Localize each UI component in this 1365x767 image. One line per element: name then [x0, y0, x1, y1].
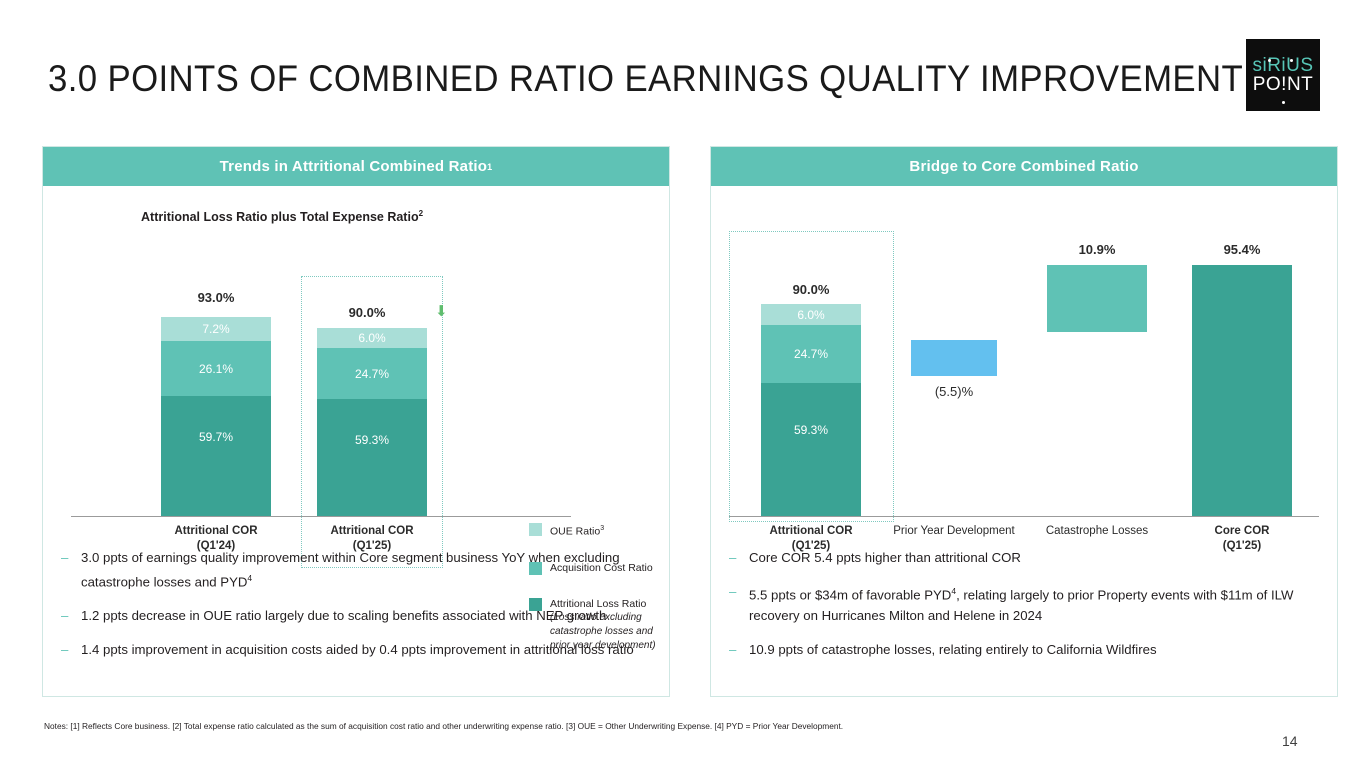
- x-axis-label-prior-year-development-line1: Prior Year Development: [889, 524, 1019, 539]
- panel-bridge-to-core-combined-ratio: Bridge to Core Combined Ratio 90.0% 6.0%…: [710, 146, 1338, 697]
- legend-label-oue-ratio: OUE Ratio3: [550, 522, 604, 539]
- x-axis-label-catastrophe-losses-line1: Catastrophe Losses: [1032, 524, 1162, 539]
- x-axis-label-core-cor-line1: Core COR: [1182, 524, 1302, 539]
- bullet-item: – Core COR 5.4 ppts higher than attritio…: [729, 547, 1321, 568]
- bar-segment-attritional-loss-q125: 59.3%: [317, 399, 427, 516]
- waterfall-label-prior-year-development: (5.5)%: [904, 384, 1004, 399]
- bar-segment-acquisition-q125-right: 24.7%: [761, 325, 861, 383]
- stacked-bar-q125: 6.0% 24.7% 59.3%: [317, 328, 427, 516]
- x-axis-label-attritional-cor-line1: Attritional COR: [751, 524, 871, 539]
- bullet-item: – 3.0 ppts of earnings quality improveme…: [61, 547, 653, 592]
- bullet-text: 5.5 ppts or $34m of favorable PYD4, rela…: [749, 581, 1321, 626]
- logo-sparkle-icon: [1268, 59, 1271, 62]
- bar-segment-oue-q124: 7.2%: [161, 317, 271, 341]
- panel-trends-attritional-combined-ratio: Trends in Attritional Combined Ratio1 At…: [42, 146, 670, 697]
- waterfall-label-catastrophe-losses: 10.9%: [1047, 242, 1147, 257]
- right-chart-axis: [729, 516, 1319, 517]
- logo-sparkle-icon: [1290, 59, 1293, 62]
- legend-swatch-icon: [529, 523, 542, 536]
- bullet-text: 1.4 ppts improvement in acquisition cost…: [81, 639, 634, 660]
- down-arrow-icon: ⬇: [435, 304, 448, 319]
- bar-segment-oue-q125-right: 6.0%: [761, 304, 861, 325]
- bullet-text: Core COR 5.4 ppts higher than attritiona…: [749, 547, 1021, 568]
- bullet-item: – 1.4 ppts improvement in acquisition co…: [61, 639, 653, 660]
- x-axis-label-catastrophe-losses: Catastrophe Losses: [1032, 524, 1162, 539]
- bullet-item: – 10.9 ppts of catastrophe losses, relat…: [729, 639, 1321, 660]
- bullet-dash-icon: –: [729, 639, 749, 660]
- bullet-dash-icon: –: [61, 547, 81, 592]
- bar-segment-acquisition-q124: 26.1%: [161, 341, 271, 396]
- x-axis-label-prior-year-development: Prior Year Development: [889, 524, 1019, 539]
- waterfall-bar-prior-year-development: [911, 340, 997, 376]
- bullet-text: 3.0 ppts of earnings quality improvement…: [81, 547, 653, 592]
- x-axis-label-q124-line1: Attritional COR: [151, 524, 281, 539]
- bullet-dash-icon: –: [61, 639, 81, 660]
- left-panel-bullets: – 3.0 ppts of earnings quality improveme…: [61, 547, 653, 673]
- left-chart-axis: [71, 516, 571, 517]
- bar-total-label-q125: 90.0%: [317, 305, 417, 320]
- bar-segment-attritional-loss-q124: 59.7%: [161, 396, 271, 516]
- bar-segment-attritional-loss-q125-right: 59.3%: [761, 383, 861, 516]
- bullet-dash-icon: –: [729, 547, 749, 568]
- footnote: Notes: [1] Reflects Core business. [2] T…: [44, 721, 843, 731]
- bullet-item: – 5.5 ppts or $34m of favorable PYD4, re…: [729, 581, 1321, 626]
- logo-sparkle-icon: [1282, 101, 1285, 104]
- waterfall-label-core-cor: 95.4%: [1192, 242, 1292, 257]
- waterfall-label-attritional-cor: 90.0%: [761, 282, 861, 297]
- logo-line-2: PO!NT: [1253, 75, 1314, 95]
- siriuspoint-logo: siRiUS PO!NT: [1246, 39, 1320, 111]
- bullet-item: – 1.2 ppts decrease in OUE ratio largely…: [61, 605, 653, 626]
- x-axis-label-q125-line1: Attritional COR: [307, 524, 437, 539]
- waterfall-bar-catastrophe-losses: [1047, 265, 1147, 332]
- bullet-dash-icon: –: [61, 605, 81, 626]
- bar-segment-acquisition-q125: 24.7%: [317, 348, 427, 399]
- left-panel-header: Trends in Attritional Combined Ratio1: [43, 147, 669, 186]
- page-title: 3.0 POINTS OF COMBINED RATIO EARNINGS QU…: [48, 58, 1243, 100]
- bullet-dash-icon: –: [729, 581, 749, 626]
- right-panel-header-text: Bridge to Core Combined Ratio: [909, 158, 1138, 175]
- right-panel-bullets: – Core COR 5.4 ppts higher than attritio…: [729, 547, 1321, 673]
- bullet-text: 1.2 ppts decrease in OUE ratio largely d…: [81, 605, 606, 626]
- waterfall-bar-attritional-cor: 6.0% 24.7% 59.3%: [761, 304, 861, 516]
- waterfall-bar-core-cor: [1192, 265, 1292, 516]
- bar-total-label-q124: 93.0%: [161, 290, 271, 305]
- bullet-text: 10.9 ppts of catastrophe losses, relatin…: [749, 639, 1157, 660]
- left-chart-plot-area: 93.0% 7.2% 26.1% 59.7% Attritional COR (…: [43, 186, 669, 591]
- right-panel-header: Bridge to Core Combined Ratio: [711, 147, 1337, 186]
- bar-segment-oue-q125: 6.0%: [317, 328, 427, 348]
- left-panel-header-superscript: 1: [487, 162, 492, 172]
- logo-line-1: siRiUS: [1252, 56, 1313, 75]
- left-panel-header-text: Trends in Attritional Combined Ratio: [220, 158, 487, 175]
- page-number: 14: [1282, 733, 1298, 749]
- right-chart-plot-area: 90.0% 6.0% 24.7% 59.3% Attritional COR (…: [711, 186, 1337, 591]
- stacked-bar-q124: 7.2% 26.1% 59.7%: [161, 317, 271, 516]
- legend-item-oue-ratio: OUE Ratio3: [529, 522, 659, 539]
